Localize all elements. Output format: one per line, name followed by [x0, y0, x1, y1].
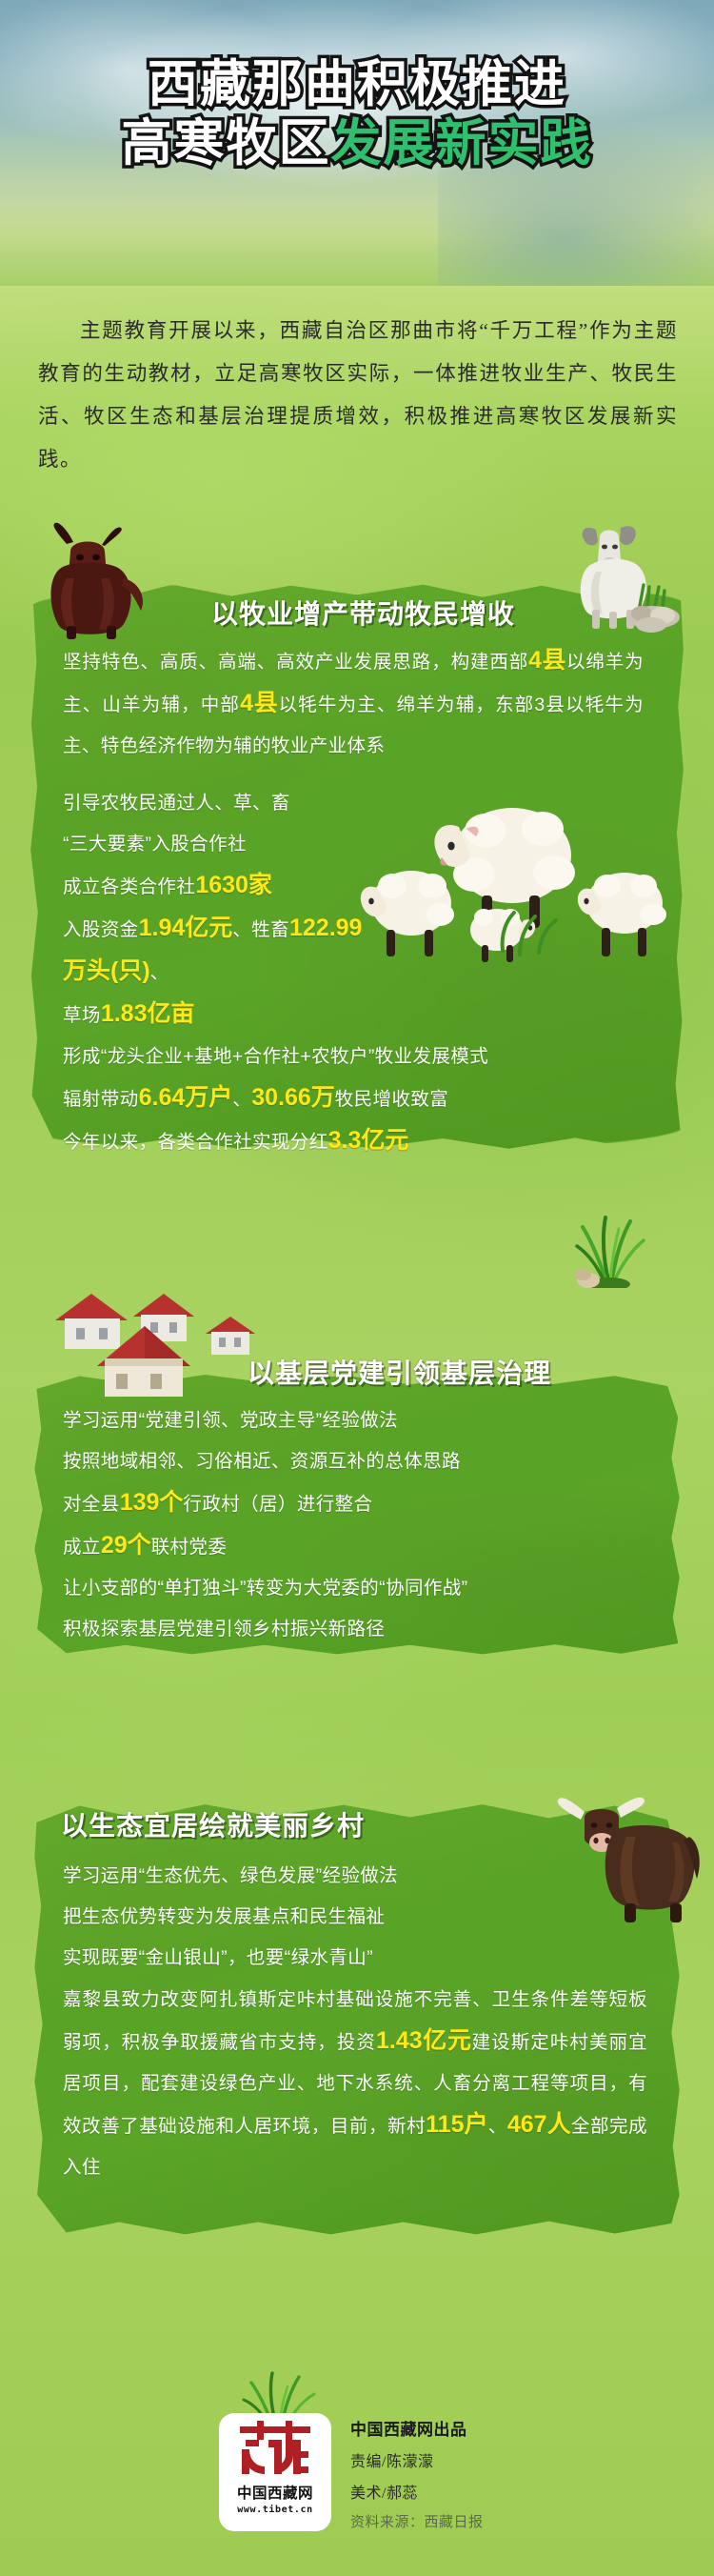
section-3-body-b: 嘉黎县致力改变阿扎镇斯定咔村基础设施不完善、卫生条件差等短板弱项，积极争取援藏省… [63, 1980, 647, 2188]
body-line: 学习运用“生态优先、绿色发展”经验做法 [63, 1856, 634, 1897]
logo-text: 中国西藏网 [237, 2482, 313, 2503]
body-text: 坚持特色、高质、高端、高效产业发展思路，构建西部 [63, 652, 528, 673]
highlight-value: 6.64万户 [139, 1084, 233, 1111]
body-text: 、牲畜 [232, 919, 289, 940]
highlight-value: 1.83亿亩 [101, 1000, 195, 1027]
body-text: 行政村（居）进行整合 [183, 1494, 372, 1515]
highlight-value: 4县 [240, 690, 278, 716]
highlight-value: 3.3亿元 [328, 1127, 409, 1154]
body-text: 辐射带动 [63, 1089, 139, 1110]
body-line: 今年以来，各类合作社实现分红3.3亿元 [63, 1120, 647, 1163]
body-line: 辐射带动6.64万户、30.66万牧民增收致富 [63, 1077, 647, 1120]
credits: 中国西藏网出品 责编/陈濛濛 美术/郝蕊 资料来源：西藏日报 [350, 2416, 664, 2531]
body-line: 成立29个联村党委 [63, 1525, 653, 1568]
produced-by: 中国西藏网出品 [350, 2416, 664, 2440]
source-credit: 资料来源：西藏日报 [350, 2511, 664, 2531]
highlight-value: 1.94亿元 [139, 915, 233, 941]
title-line-2-green: 发展新实践 [331, 114, 593, 172]
body-line: “三大要素”入股合作社 [63, 824, 377, 865]
body-line: 把生态优势转变为发展基点和民生福祉 [63, 1897, 634, 1938]
body-text: 成立各类合作社 [63, 876, 195, 897]
highlight-value: 30.66万 [251, 1084, 335, 1111]
goat-icon [567, 514, 685, 634]
section-3-heading: 以生态宜居绘就美丽乡村 [61, 1805, 365, 1843]
grass-tuft-icon [560, 1193, 651, 1288]
body-text: 按照地域相邻、习俗相近、资源互补的总体思路 [63, 1451, 461, 1472]
intro-paragraph: 主题教育开展以来，西藏自治区那曲市将“千万工程”作为主题教育的生动教材，立足高寒… [38, 310, 678, 481]
section-2-body: 学习运用“党建引领、党政主导”经验做法按照地域相邻、习俗相近、资源互补的总体思路… [63, 1400, 653, 1650]
section-1-body-a: 坚持特色、高质、高端、高效产业发展思路，构建西部4县以绵羊为主、山羊为辅，中部4… [63, 640, 644, 767]
highlight-value: 139个 [120, 1489, 184, 1516]
body-text: 、 [150, 962, 169, 983]
body-text: 、 [488, 2116, 507, 2137]
yak-icon [42, 519, 154, 641]
highlight-value: 4县 [528, 647, 566, 674]
body-text: 草场 [63, 1005, 101, 1026]
title-line-2-white: 高寒牧区 [122, 114, 331, 172]
body-line: 积极探索基层党建引领乡村振兴新路径 [63, 1609, 653, 1650]
artist-credit: 美术/郝蕊 [350, 2480, 664, 2503]
body-text: 让小支部的“单打独斗”转变为大党委的“协同作战” [63, 1578, 468, 1599]
body-line: 成立各类合作社1630家 [63, 865, 377, 908]
body-text: 把生态优势转变为发展基点和民生福祉 [63, 1906, 385, 1927]
page-title: 西藏那曲积极推进 高寒牧区发展新实践 [0, 55, 714, 173]
section-3-body-a: 学习运用“生态优先、绿色发展”经验做法把生态优势转变为发展基点和民生福祉实现既要… [63, 1856, 634, 1979]
body-line: 对全县139个行政村（居）进行整合 [63, 1482, 653, 1525]
sheep-icon [352, 791, 676, 962]
body-text: 学习运用“党建引领、党政主导”经验做法 [63, 1410, 398, 1431]
body-text: 实现既要“金山银山”，也要“绿水青山” [63, 1947, 373, 1968]
body-text: 今年以来，各类合作社实现分红 [63, 1132, 328, 1153]
section-2-heading: 以基层党建引领基层治理 [248, 1353, 551, 1391]
section-1-body-c: 形成“龙头企业+基地+合作社+农牧户”牧业发展模式辐射带动6.64万户、30.6… [63, 1036, 647, 1163]
highlight-value: 1.43亿元 [376, 2027, 472, 2054]
body-text: 、 [232, 1089, 251, 1110]
highlight-value: 29个 [101, 1532, 151, 1559]
body-line: 坚持特色、高质、高端、高效产业发展思路，构建西部4县以绵羊为主、山羊为辅，中部4… [63, 640, 644, 767]
body-line: 让小支部的“单打独斗”转变为大党委的“协同作战” [63, 1568, 653, 1609]
highlight-value: 1630家 [195, 872, 272, 898]
body-line: 形成“龙头企业+基地+合作社+农牧户”牧业发展模式 [63, 1036, 647, 1077]
body-text: 牧民增收致富 [335, 1089, 448, 1110]
editor-credit: 责编/陈濛濛 [350, 2448, 664, 2471]
logo-glyph-icon [236, 2421, 314, 2480]
tibet-net-logo-icon[interactable]: 中国西藏网 www.tibet.cn [219, 2413, 331, 2531]
body-text: 入股资金 [63, 919, 139, 940]
highlight-value: 467人 [507, 2111, 571, 2138]
logo-url: www.tibet.cn [237, 2505, 312, 2515]
body-text: 引导农牧民通过人、草、畜 [63, 793, 290, 814]
highlight-value: 115户 [426, 2111, 488, 2138]
title-line-1: 西藏那曲积极推进 [0, 55, 714, 114]
body-line: 嘉黎县致力改变阿扎镇斯定咔村基础设施不完善、卫生条件差等短板弱项，积极争取援藏省… [63, 1980, 647, 2188]
section-1-body-b: 引导农牧民通过人、草、畜“三大要素”入股合作社成立各类合作社1630家入股资金1… [63, 783, 377, 1036]
body-line: 草场1.83亿亩 [63, 994, 377, 1036]
body-text: 成立 [63, 1537, 101, 1558]
body-text: 学习运用“生态优先、绿色发展”经验做法 [63, 1865, 398, 1886]
body-text: 积极探索基层党建引领乡村振兴新路径 [63, 1619, 385, 1640]
body-line: 学习运用“党建引领、党政主导”经验做法 [63, 1400, 653, 1441]
body-text: “三大要素”入股合作社 [63, 834, 247, 855]
body-line: 入股资金1.94亿元、牲畜122.99万头(只)、 [63, 908, 377, 994]
body-line: 引导农牧民通过人、草、畜 [63, 783, 377, 824]
body-line: 实现既要“金山银山”，也要“绿水青山” [63, 1938, 634, 1979]
body-text: 对全县 [63, 1494, 120, 1515]
section-1-heading: 以牧业增产带动牧民增收 [211, 594, 515, 632]
body-line: 按照地域相邻、习俗相近、资源互补的总体思路 [63, 1441, 653, 1482]
body-text: 联村党委 [151, 1537, 228, 1558]
body-text: 形成“龙头企业+基地+合作社+农牧户”牧业发展模式 [63, 1046, 488, 1067]
title-line-2: 高寒牧区发展新实践 [0, 114, 714, 173]
